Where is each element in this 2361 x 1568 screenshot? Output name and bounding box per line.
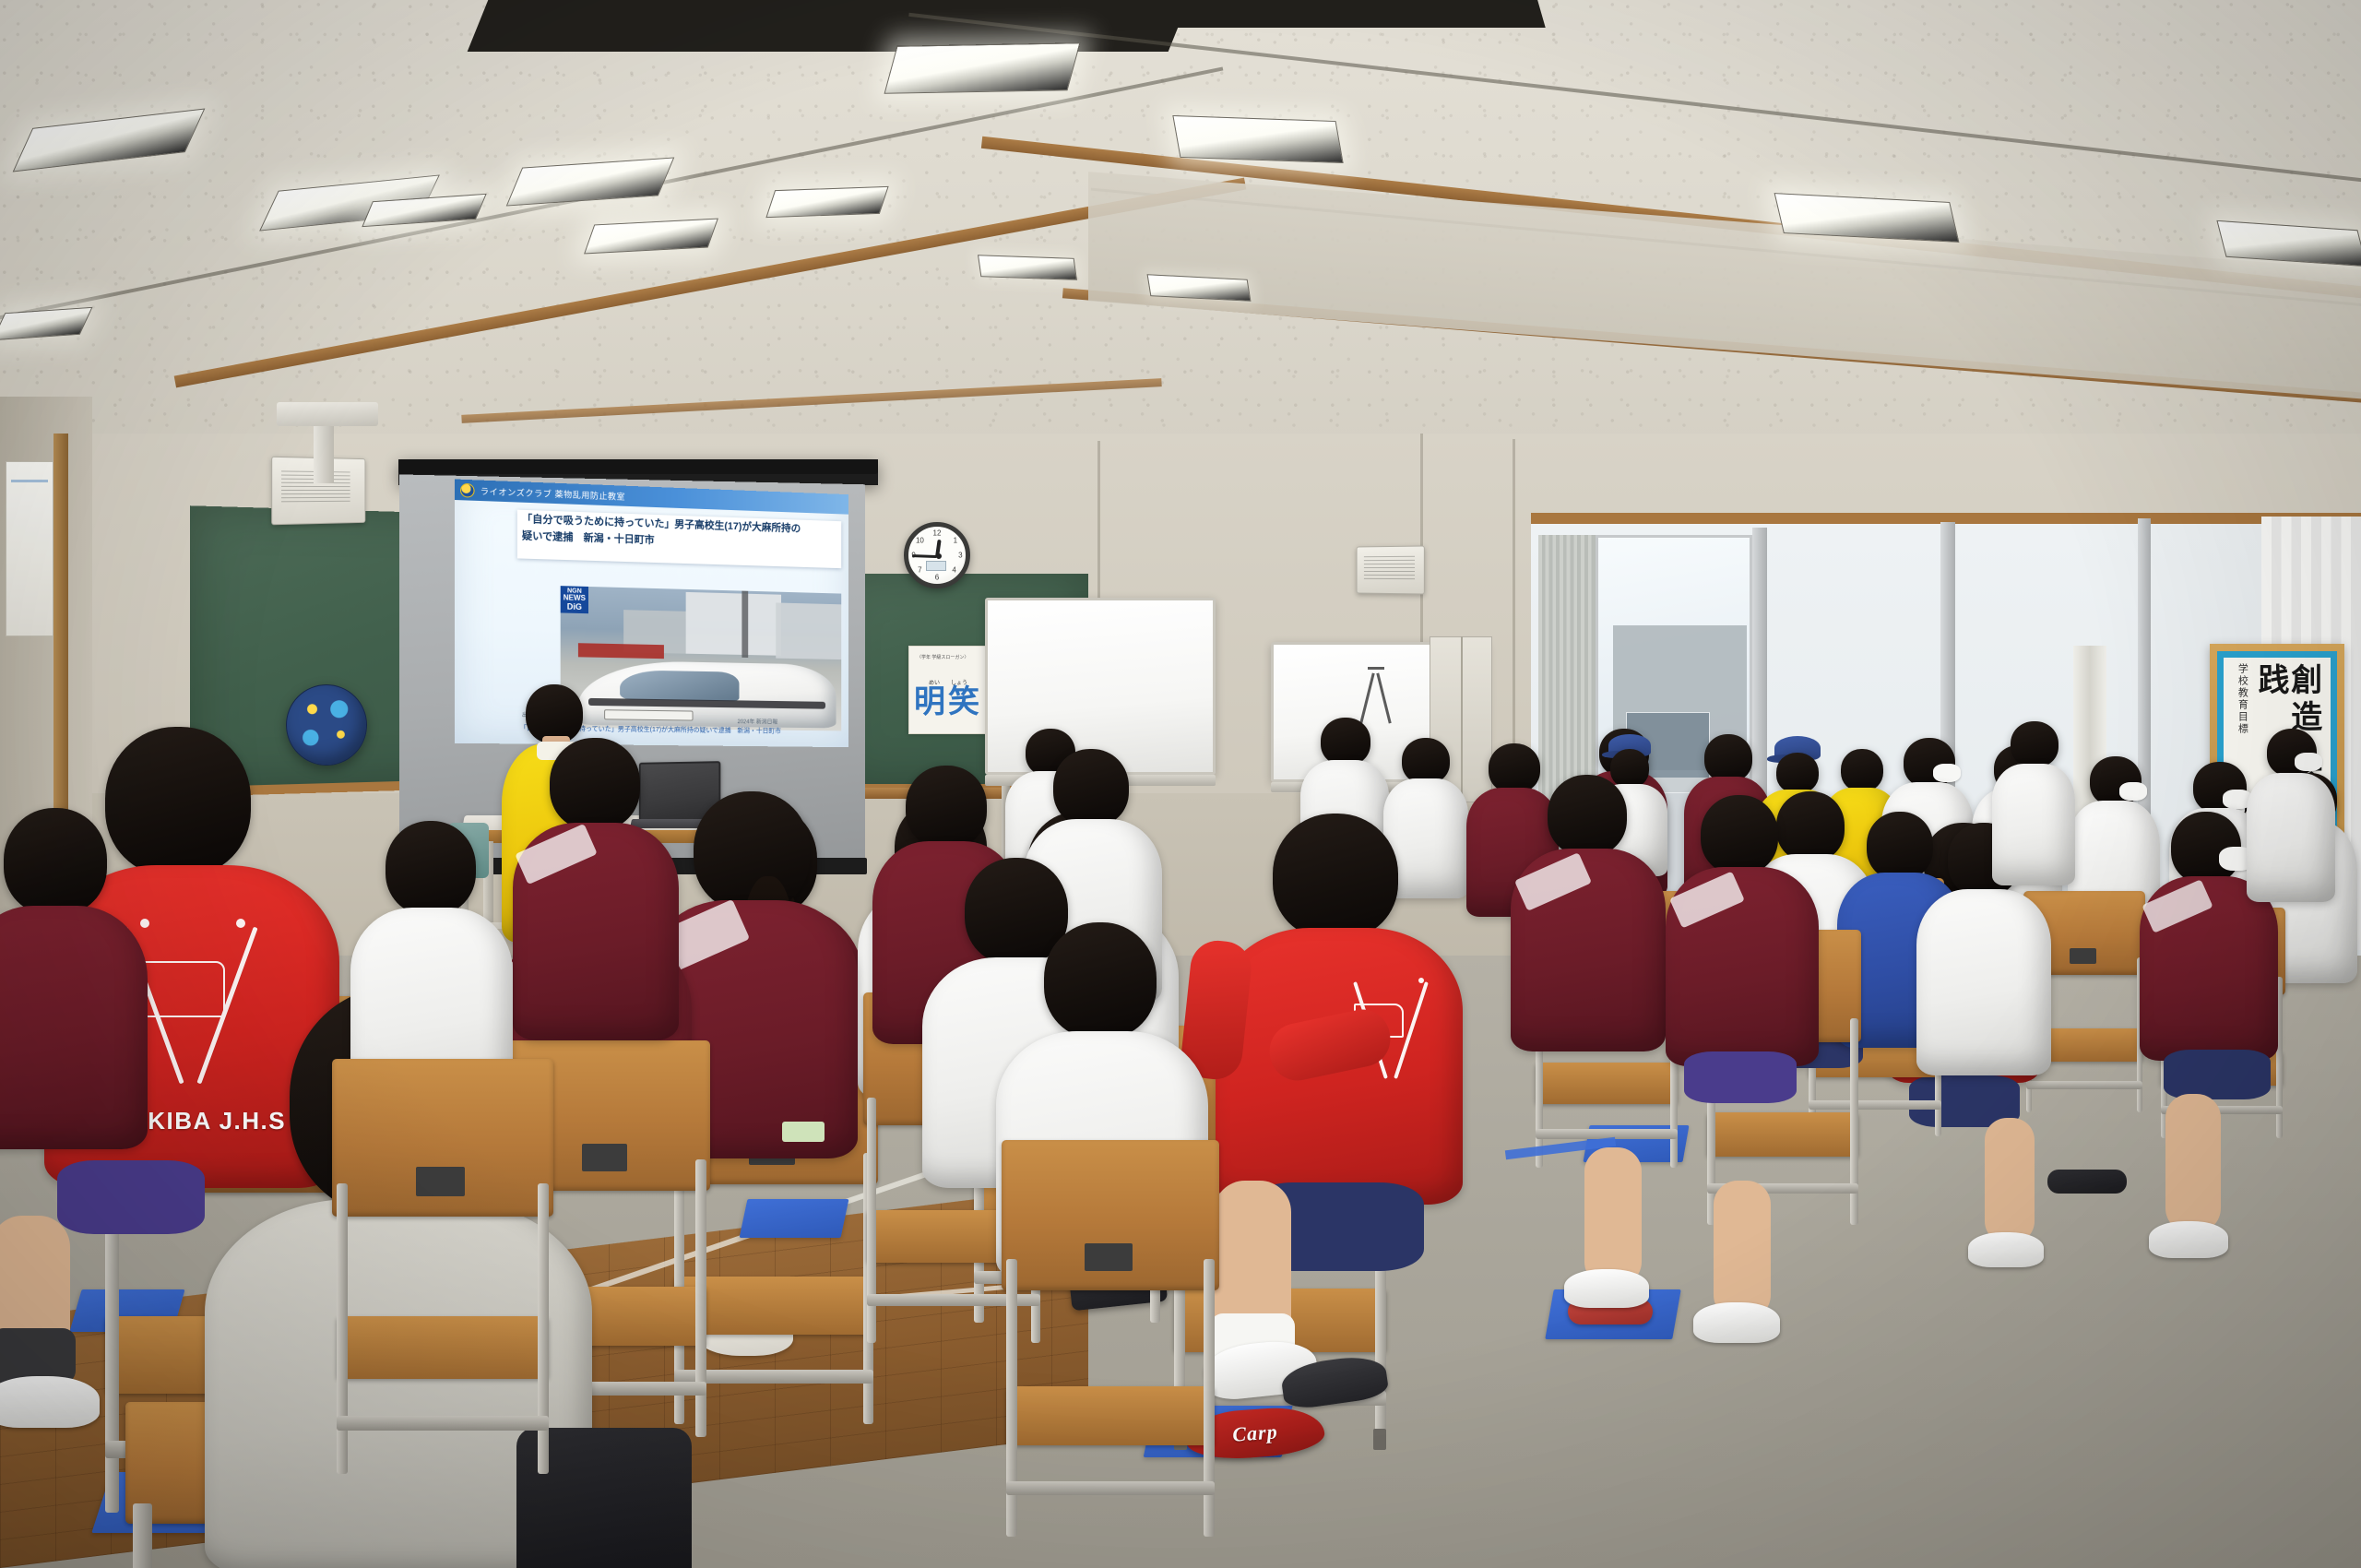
leg-cr-2 [1714, 1181, 1771, 1319]
poster-meisho-label: 〈学年 学級スローガン〉 [917, 654, 968, 660]
chair-frame-left [133, 1503, 152, 1568]
chair-center-4 [1002, 1140, 1219, 1537]
clock-date-window [926, 561, 946, 571]
leg-maroon-right [2165, 1094, 2221, 1232]
shoe-cr-2 [1693, 1302, 1780, 1343]
head [1548, 775, 1627, 856]
badge-line-3: DiG [564, 602, 586, 612]
projection-screen-roller [398, 459, 878, 474]
head [386, 821, 476, 915]
face-mask-icon [1933, 764, 1961, 782]
police-car-stripe [588, 697, 825, 708]
student-cr-maroon-2 [1666, 795, 1819, 1118]
face-mask-icon [2295, 753, 2322, 771]
chair-left-1-sticker [782, 1122, 825, 1142]
head [1704, 734, 1752, 782]
classroom-photo-scene: 〈学年 学級スローガン〉 めい しょう 明笑 12 1 3 4 6 7 9 10 [0, 0, 2361, 1568]
ceiling-soffit-center [1055, 0, 1545, 28]
chair-backplate [416, 1167, 465, 1196]
shoe-red-right [1968, 1232, 2044, 1267]
projector-body [277, 402, 378, 426]
chair-seat [337, 1316, 549, 1379]
calligraphy-side-text: 学校教育目標 [2235, 663, 2249, 735]
shoe-maroon-right [2149, 1221, 2228, 1258]
chair-frame-right [1204, 1259, 1215, 1537]
audience-silhouette-1 [2247, 729, 2335, 904]
left-wall-poster-line [11, 480, 48, 482]
chair-mid-left [332, 1059, 553, 1474]
whiteboard-right-sketch [1359, 672, 1374, 723]
chair-rung [337, 1416, 549, 1431]
ceiling-light-8 [884, 42, 1081, 93]
torso [0, 906, 148, 1149]
flag-knob-1 [236, 919, 245, 928]
head [1776, 753, 1819, 793]
chair-seat [1707, 1112, 1857, 1157]
whiteboard-right-sketch-3 [1368, 667, 1384, 670]
head [550, 738, 640, 830]
head [1841, 749, 1883, 791]
chair-foot-right [1373, 1429, 1386, 1450]
chair-seat [1006, 1386, 1216, 1446]
chair-frame-left [867, 1098, 876, 1343]
chair-frame-right [695, 1159, 706, 1437]
chair-frame-right [538, 1183, 549, 1474]
shoe-far-left [0, 1376, 100, 1428]
leg-red-right [1985, 1118, 2035, 1243]
news-card: 「自分で吸うために持っていた」男子高校生(17)が大麻所持の 疑いで逮捕 新潟・… [517, 510, 841, 569]
lions-club-emblem-icon [460, 482, 475, 497]
student-far-left-maroon [0, 808, 148, 1205]
ceiling-light-7 [765, 186, 888, 218]
photo-building-2 [776, 603, 841, 659]
student-cr-maroon-1 [1511, 775, 1666, 1107]
poster-meisho: 〈学年 学級スローガン〉 めい しょう 明笑 [908, 646, 988, 734]
whiteboard-right-sketch-2 [1376, 672, 1391, 723]
wall-seam-3 [1513, 439, 1515, 753]
shorts [1684, 1051, 1797, 1103]
clock-center-cap [936, 553, 942, 559]
head [1402, 738, 1450, 784]
sock-far-left [0, 1328, 76, 1384]
chair-frame-left [1006, 1259, 1017, 1537]
head [1321, 718, 1370, 766]
audience-silhouette-2 [1992, 721, 2075, 887]
news-dig-badge: NGN NEWS DiG [561, 586, 588, 613]
projector-mount [314, 417, 334, 483]
photo-red-roof [577, 643, 663, 659]
face-mask-icon [2119, 782, 2147, 801]
ceiling-light-10 [978, 255, 1077, 280]
head [2011, 721, 2058, 767]
presenter-head [526, 684, 583, 743]
head [1044, 922, 1157, 1039]
torso [1992, 764, 2075, 885]
wall-speaker-right [1357, 545, 1425, 594]
shoe-cr-1 [1564, 1269, 1649, 1308]
head [1701, 795, 1778, 874]
black-pouch-right [2047, 1170, 2127, 1194]
torso [2247, 773, 2335, 902]
chair-backplate [1085, 1243, 1133, 1271]
leg-cr-1 [1584, 1147, 1642, 1286]
shorts [2164, 1050, 2271, 1099]
head [4, 808, 107, 915]
ceiling-light-9 [1172, 115, 1343, 163]
chair-frame-right [1850, 1018, 1858, 1225]
head [906, 766, 987, 849]
torso [1916, 889, 2051, 1075]
photo-pole [742, 591, 748, 658]
chair-backplate [2070, 948, 2096, 964]
speaker-grill-right [1364, 556, 1415, 580]
chair-rung [1006, 1481, 1216, 1495]
poster-meisho-text: 明笑 [914, 686, 982, 718]
left-wall-poster [6, 461, 53, 636]
flag-knob [1418, 978, 1424, 983]
photo-building-1 [686, 592, 781, 656]
head [1053, 749, 1129, 826]
slide-header-text: ライオンズクラブ 薬物乱用防止教室 [481, 484, 625, 502]
head [1273, 814, 1398, 939]
police-car-window [620, 670, 739, 701]
slide-date-note: 2024年 新潟日報 [733, 717, 782, 726]
chair-frame-left [337, 1183, 348, 1474]
wall-clock: 12 1 3 4 6 7 9 10 [904, 522, 970, 588]
